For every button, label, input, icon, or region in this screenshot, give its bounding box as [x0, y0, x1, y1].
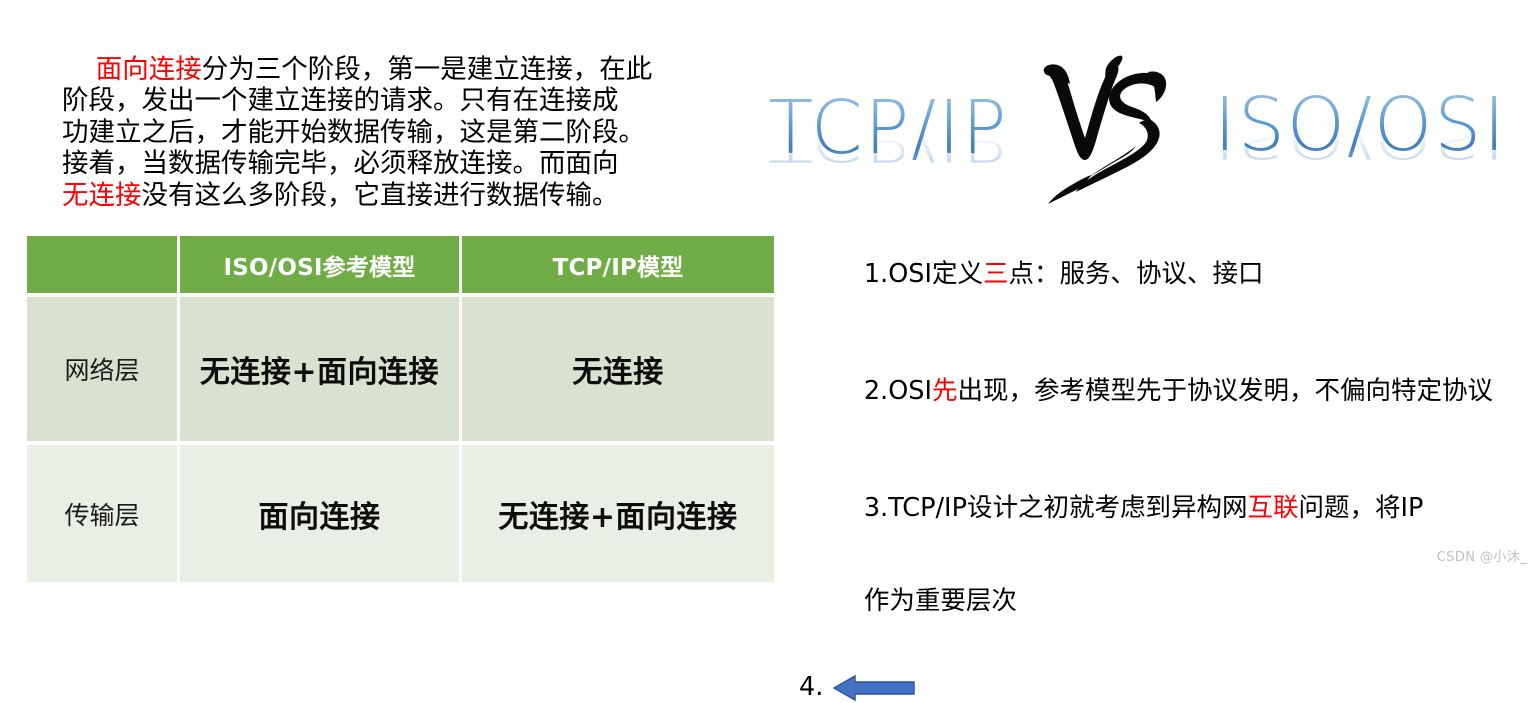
table-header-tcp-ip: TCP/IP模型 — [462, 236, 774, 297]
table-row: 网络层 无连接+面向连接 无连接 — [27, 297, 774, 445]
comparison-notes-list: 1.OSI定义三点：服务、协议、接口 2.OSI先出现，参考模型先于协议发明，不… — [799, 228, 1529, 703]
table-header-blank — [27, 236, 180, 297]
cell-transport-iso-osi: 面向连接 — [180, 445, 462, 586]
cell-network-tcp-ip: 无连接 — [462, 297, 774, 445]
isoosi-title: ISO/OSI — [1214, 88, 1507, 162]
csdn-watermark: CSDN @小沐_ — [1437, 546, 1527, 565]
note-2-seg-0: 2.OSI — [864, 376, 932, 406]
cell-transport-tcp-ip: 无连接+面向连接 — [462, 445, 774, 586]
note-1-seg-0: 1.OSI定义 — [864, 259, 983, 289]
connection-oriented-paragraph: 面向连接分为三个阶段，第一是建立连接，在此 阶段，发出一个建立连接的请求。只有在… — [62, 22, 732, 243]
osi-tcpip-comparison-table: ISO/OSI参考模型 TCP/IP模型 网络层 无连接+面向连接 无连接 传输… — [27, 236, 774, 586]
note-3-seg-2: 问题，将IP — [1298, 493, 1423, 523]
table-header-iso-osi: ISO/OSI参考模型 — [180, 236, 462, 297]
note-item-3: 3.TCP/IP设计之初就考虑到异构网互联问题，将IP 作为重要层次 — [799, 462, 1529, 648]
row-label-network-layer: 网络层 — [27, 297, 180, 445]
tcpip-title: TCP/IP — [768, 91, 1009, 165]
left-arrow-icon — [833, 673, 915, 703]
note-1-seg-2: 点：服务、协议、接口 — [1008, 259, 1263, 289]
note-item-4: 4. — [799, 672, 1529, 703]
table-header-row: ISO/OSI参考模型 TCP/IP模型 — [27, 236, 774, 297]
vs-brush-icon — [1010, 48, 1190, 208]
intro-segment-0: 面向连接 — [96, 54, 202, 85]
row-label-transport-layer: 传输层 — [27, 445, 180, 586]
note-2-seg-2: 出现，参考模型先于协议发明，不偏向特定协议 — [957, 376, 1493, 406]
slide-canvas: 面向连接分为三个阶段，第一是建立连接，在此 阶段，发出一个建立连接的请求。只有在… — [0, 0, 1535, 571]
intro-segment-2: 无连接 — [62, 180, 142, 211]
table-row: 传输层 面向连接 无连接+面向连接 — [27, 445, 774, 586]
title-banner: TCP/IP TCP/IP — [762, 46, 1535, 222]
intro-segment-3: 没有这么多阶段，它直接进行数据传输。 — [142, 180, 619, 211]
note-item-1: 1.OSI定义三点：服务、协议、接口 — [799, 228, 1529, 321]
note-2-seg-1: 先 — [932, 376, 958, 406]
note-4-marker: 4. — [799, 672, 823, 703]
cell-network-iso-osi: 无连接+面向连接 — [180, 297, 462, 445]
note-1-seg-1: 三 — [983, 259, 1009, 289]
note-3-line2: 作为重要层次 — [864, 586, 1017, 616]
note-3-seg-0: 3.TCP/IP设计之初就考虑到异构网 — [864, 493, 1248, 523]
note-3-seg-1: 互联 — [1247, 493, 1298, 523]
note-item-2: 2.OSI先出现，参考模型先于协议发明，不偏向特定协议 — [799, 345, 1529, 438]
